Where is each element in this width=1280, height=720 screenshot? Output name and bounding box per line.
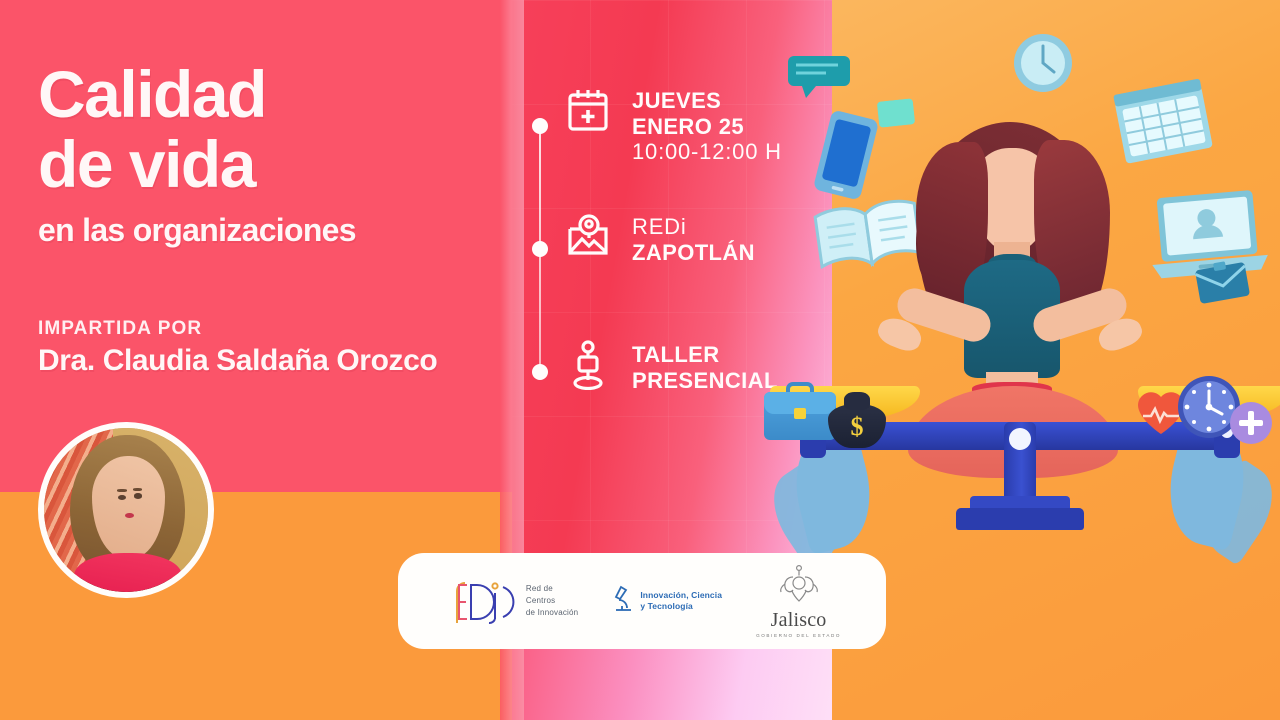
headline-line-1: Calidad xyxy=(38,62,508,126)
money-symbol: $ xyxy=(828,412,886,442)
avatar-brow-left xyxy=(117,489,127,492)
location-city: ZAPOTLÁN xyxy=(632,240,755,266)
redi-caption-line-1: Red de xyxy=(526,583,578,595)
detail-text-format: TALLER PRESENCIAL xyxy=(632,340,778,393)
format-line-2: PRESENCIAL xyxy=(632,368,778,394)
ict-caption-line-1: Innovación, Ciencia xyxy=(640,590,722,601)
redi-logo: Red de Centros de Innovación xyxy=(443,577,578,625)
microscope-icon xyxy=(612,584,634,619)
headline-block: Calidad de vida en las organizaciones xyxy=(38,62,508,249)
avatar-eye-left xyxy=(118,495,126,500)
timeline-dot-1 xyxy=(532,118,548,134)
smartphone-icon xyxy=(810,107,881,203)
wall-clock-icon xyxy=(1012,32,1074,94)
medical-plus-icon xyxy=(1230,402,1272,444)
balance-scale: $ xyxy=(790,330,1250,540)
briefcase-lock xyxy=(794,408,806,419)
map-location-pin-icon xyxy=(566,212,610,262)
redi-caption-line-2: Centros xyxy=(526,595,578,607)
location-brand: REDi xyxy=(632,214,755,240)
briefcase-icon xyxy=(764,382,836,440)
speaker-block: IMPARTIDA POR Dra. Claudia Saldaña Orozc… xyxy=(38,318,508,378)
detail-row-format: TALLER PRESENCIAL xyxy=(566,340,778,393)
jalisco-logo: Jalisco GOBIERNO DEL ESTADO xyxy=(756,564,841,638)
avatar-mouth xyxy=(125,513,135,519)
detail-row-location: REDi ZAPOTLÁN xyxy=(566,212,755,265)
money-bag-icon: $ xyxy=(828,390,886,448)
innovacion-ciencia-tecnologia-logo: Innovación, Ciencia y Tecnología xyxy=(612,584,722,619)
detail-text-location: REDi ZAPOTLÁN xyxy=(632,212,755,265)
chat-bubble-icon xyxy=(788,56,850,98)
avatar-face xyxy=(92,456,166,558)
headline-line-2: de vida xyxy=(38,132,508,196)
work-life-balance-illustration: $ xyxy=(760,0,1280,649)
presenter-person-icon xyxy=(566,340,610,390)
timeline-dot-2 xyxy=(532,241,548,257)
avatar-scarf xyxy=(74,553,182,598)
jalisco-crest-icon xyxy=(774,591,824,608)
money-bag-tie xyxy=(844,392,870,410)
ict-caption: Innovación, Ciencia y Tecnología xyxy=(640,590,722,613)
envelope-icon xyxy=(1193,254,1252,306)
detail-row-date: JUEVES ENERO 25 10:00-12:00 H xyxy=(566,86,782,165)
timeline-dot-3 xyxy=(532,364,548,380)
scale-base xyxy=(956,508,1084,530)
speaker-name: Dra. Claudia Saldaña Orozco xyxy=(38,344,508,378)
redi-caption-line-3: de Innovación xyxy=(526,607,578,619)
scale-pan-right xyxy=(1138,386,1280,420)
calendar-plus-icon xyxy=(566,86,610,136)
timeline xyxy=(536,118,544,380)
redi-caption: Red de Centros de Innovación xyxy=(526,583,578,619)
scale-pan-left: $ xyxy=(770,386,920,420)
event-poster: Calidad de vida en las organizaciones IM… xyxy=(0,0,1280,720)
speaker-prefix: IMPARTIDA POR xyxy=(38,318,508,340)
ict-caption-line-2: y Tecnología xyxy=(640,601,722,612)
logo-bar: Red de Centros de Innovación Innovación,… xyxy=(398,553,886,649)
avatar-eye-right xyxy=(134,493,142,498)
avatar-brow-right xyxy=(133,488,143,491)
headline-subtitle: en las organizaciones xyxy=(38,212,508,249)
scale-pivot xyxy=(1009,428,1031,450)
avatar xyxy=(38,422,214,598)
redi-mark-icon xyxy=(443,577,517,625)
jalisco-subtitle: GOBIERNO DEL ESTADO xyxy=(756,633,841,638)
jalisco-title: Jalisco xyxy=(756,609,841,632)
format-line-1: TALLER xyxy=(632,342,778,368)
